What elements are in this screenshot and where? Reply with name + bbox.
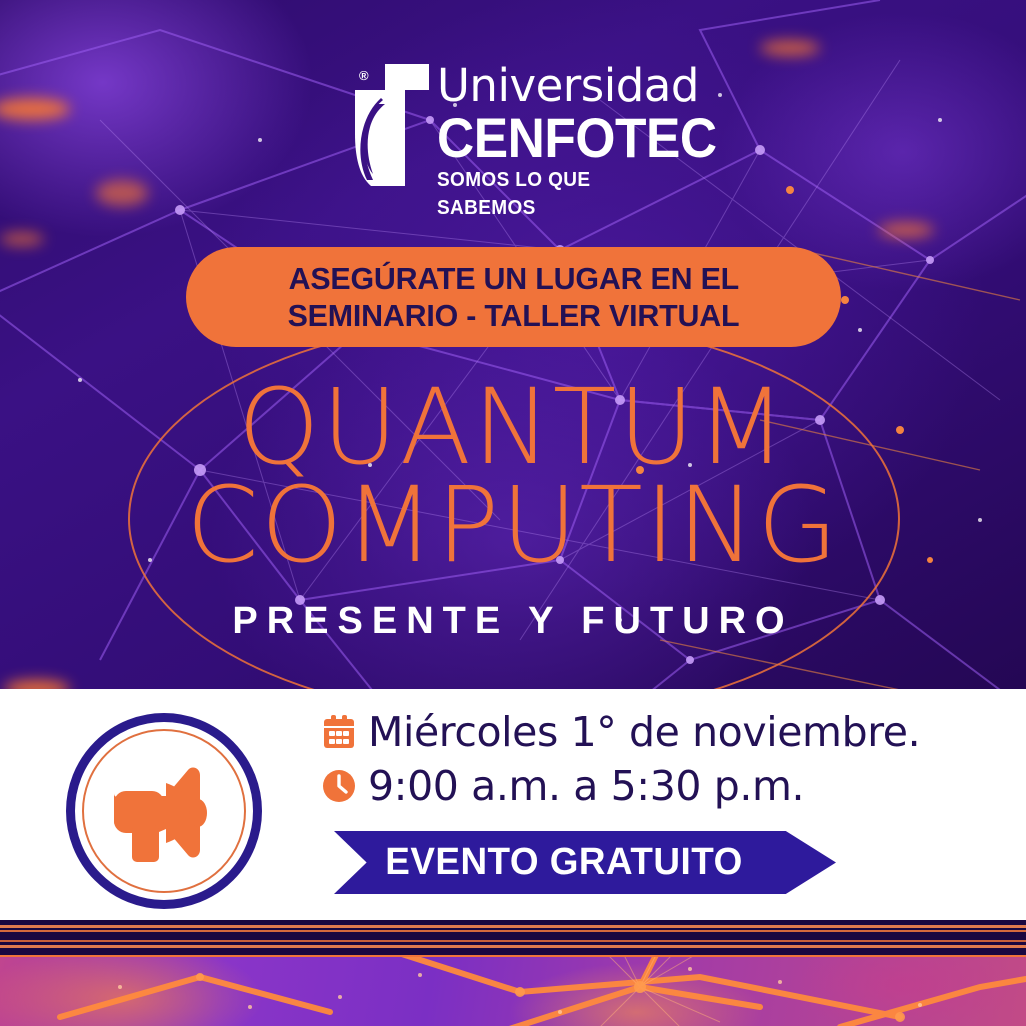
free-event-label: EVENTO GRATUITO bbox=[341, 831, 787, 894]
clock-icon bbox=[322, 769, 368, 803]
decorative-stripes bbox=[0, 920, 1026, 957]
free-event-ribbon: EVENTO GRATUITO bbox=[334, 831, 836, 894]
time-row: 9:00 a.m. a 5:30 p.m. bbox=[322, 759, 920, 813]
logo-tagline: SOMOS LO QUE SABEMOS bbox=[437, 166, 675, 222]
event-title: QUANTUM COMPUTING bbox=[0, 378, 1026, 574]
glow-accent bbox=[0, 232, 44, 246]
event-poster: ® Universidad CENFOTEC SOMOS LO QUE SABE… bbox=[0, 0, 1026, 1026]
stripe-orange bbox=[0, 945, 1026, 948]
date-row: Miércoles 1° de noviembre. bbox=[322, 705, 920, 759]
logo-line-universidad: Universidad bbox=[437, 62, 687, 110]
title-line-1: QUANTUM bbox=[0, 378, 1026, 476]
stripe-orange bbox=[0, 925, 1026, 928]
registration-banner: ASEGÚRATE UN LUGAR EN EL SEMINARIO - TAL… bbox=[186, 247, 841, 347]
megaphone-badge bbox=[66, 713, 262, 909]
glow-accent bbox=[878, 222, 934, 238]
glow-accent bbox=[760, 40, 820, 56]
cenfotec-logo: ® Universidad CENFOTEC SOMOS LO QUE SABE… bbox=[355, 62, 685, 212]
event-details: Miércoles 1° de noviembre. 9:00 a.m. a 5… bbox=[322, 705, 920, 813]
calendar-icon bbox=[322, 715, 368, 749]
stripe-orange bbox=[0, 930, 1026, 932]
event-time: 9:00 a.m. a 5:30 p.m. bbox=[368, 762, 804, 810]
event-subtitle: PRESENTE Y FUTURO bbox=[0, 600, 1026, 643]
event-date: Miércoles 1° de noviembre. bbox=[368, 708, 920, 756]
glow-accent bbox=[96, 180, 148, 206]
logo-wordmark: Universidad CENFOTEC SOMOS LO QUE SABEMO… bbox=[437, 62, 687, 222]
footer-network-graphic bbox=[0, 957, 1026, 1026]
banner-line-2: SEMINARIO - TALLER VIRTUAL bbox=[288, 297, 740, 334]
stripe-orange bbox=[0, 940, 1026, 942]
megaphone-icon bbox=[110, 763, 220, 863]
banner-line-1: ASEGÚRATE UN LUGAR EN EL bbox=[288, 260, 738, 297]
title-line-2: COMPUTING bbox=[0, 476, 1026, 574]
hero-background: ® Universidad CENFOTEC SOMOS LO QUE SABE… bbox=[0, 0, 1026, 689]
footer-network-image bbox=[0, 957, 1026, 1026]
info-section: Miércoles 1° de noviembre. 9:00 a.m. a 5… bbox=[0, 689, 1026, 920]
logo-line-cenfotec: CENFOTEC bbox=[437, 110, 667, 166]
registered-symbol: ® bbox=[359, 68, 369, 83]
